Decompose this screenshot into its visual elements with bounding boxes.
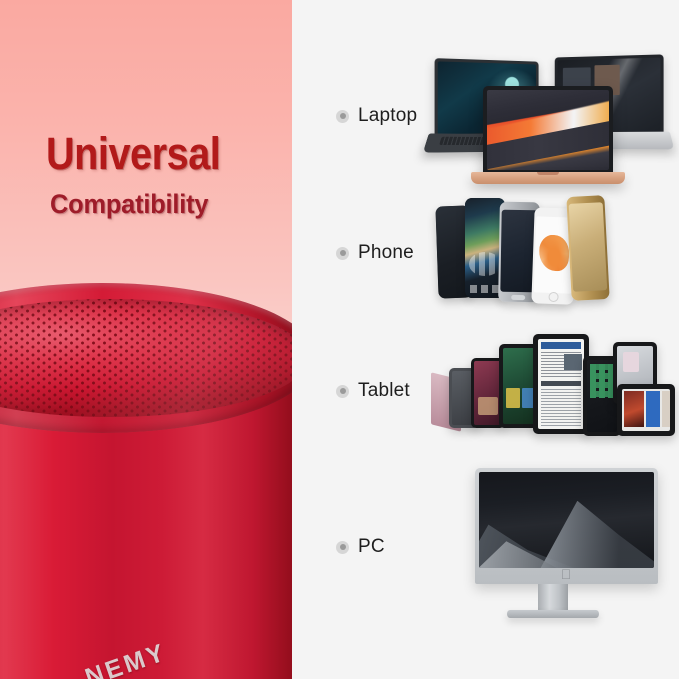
laptop-macbook-screen xyxy=(487,90,609,170)
row-label-text: Phone xyxy=(358,242,414,264)
macbook-notch xyxy=(537,172,559,175)
app-icons-row xyxy=(469,252,501,276)
headline-secondary: Compatibility xyxy=(50,187,277,221)
tablet-4-ipad-large xyxy=(533,334,589,434)
screen-thumbnail xyxy=(662,391,670,427)
radio-dot-icon xyxy=(336,110,349,123)
tablet-7-kindle-fire xyxy=(617,384,675,436)
headline-primary: Universal xyxy=(46,128,262,180)
compatibility-row-phone[interactable]: Phone xyxy=(292,194,679,312)
pc-device-image:  xyxy=(427,462,679,632)
imac-stand-foot xyxy=(507,610,599,618)
screen-bar xyxy=(541,381,581,386)
screen-thumbnail xyxy=(478,397,498,415)
laptop-device-image xyxy=(427,52,679,180)
wallpaper-flower xyxy=(538,235,569,272)
product-infographic: Universal Compatibility NEMY Laptop xyxy=(0,0,679,679)
row-label-phone: Phone xyxy=(292,242,427,264)
screen-thumbnail xyxy=(646,391,660,427)
screen-text-lines xyxy=(541,389,581,426)
promo-panel: Universal Compatibility NEMY xyxy=(0,0,292,679)
screen-thumbnail xyxy=(624,391,644,427)
speaker-grille-sheen xyxy=(0,299,292,417)
laptop-macbook-base xyxy=(471,172,625,184)
screen-header xyxy=(541,342,581,349)
headline-block: Universal Compatibility xyxy=(0,128,292,221)
row-label-tablet: Tablet xyxy=(292,380,427,402)
screen-thumbnail xyxy=(623,352,639,372)
tablet-screen xyxy=(538,339,584,429)
row-label-text: Laptop xyxy=(358,105,417,127)
laptop-macbook xyxy=(483,86,613,174)
tablet-screen xyxy=(503,348,535,424)
row-label-laptop: Laptop xyxy=(292,105,427,127)
row-label-pc: PC xyxy=(292,536,427,558)
tablet-screen xyxy=(622,389,670,431)
dock-icons-row xyxy=(470,285,500,293)
wallpaper-dune xyxy=(539,501,655,568)
imac-display:  xyxy=(475,468,658,584)
screen-thumbnail xyxy=(564,354,582,370)
phone-screen xyxy=(569,202,608,292)
row-label-text: PC xyxy=(358,536,385,558)
tablet-device-image xyxy=(427,328,679,454)
radio-dot-icon xyxy=(336,247,349,260)
radio-dot-icon xyxy=(336,385,349,398)
compatibility-row-pc[interactable]: PC  xyxy=(292,462,679,632)
phone-huawei-gold xyxy=(566,195,609,301)
home-button xyxy=(511,295,525,300)
apple-logo-icon:  xyxy=(561,568,572,581)
tablet-screen xyxy=(474,361,502,425)
bluetooth-speaker-product-image: NEMY xyxy=(0,283,292,679)
radio-dot-icon xyxy=(336,541,349,554)
phone-device-image xyxy=(427,194,679,312)
compatibility-panel: Laptop xyxy=(292,0,679,679)
compatibility-row-tablet[interactable]: Tablet xyxy=(292,328,679,454)
imac-screen xyxy=(479,472,654,568)
screen-thumbnail xyxy=(506,388,520,408)
row-label-text: Tablet xyxy=(358,380,410,402)
compatibility-row-laptop[interactable]: Laptop xyxy=(292,52,679,180)
imac-stand-neck xyxy=(538,584,568,612)
home-button xyxy=(548,292,558,302)
